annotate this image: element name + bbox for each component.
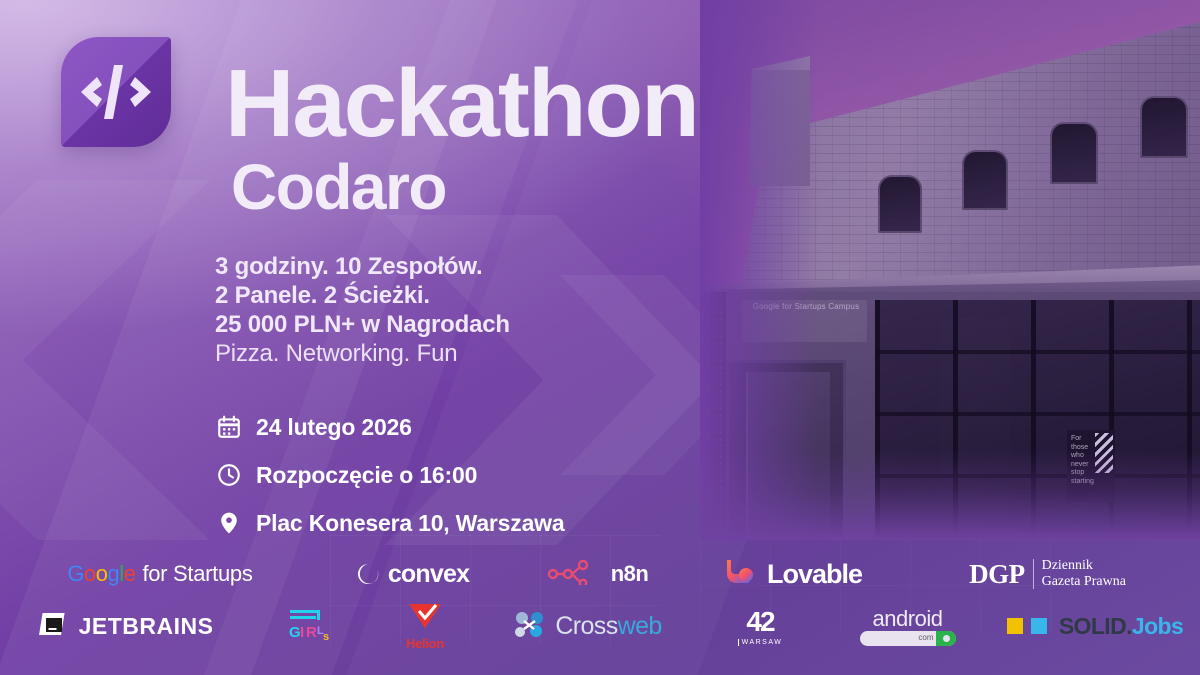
crossweb-wordmark: Crossweb [555,612,661,641]
crossweb-part1: Cross [555,612,617,640]
jetbrains-mark-icon [37,607,71,646]
google-wordmark: Google [67,561,135,587]
helion-wordmark: Helion [406,636,444,651]
sponsor-42-warsaw: 42 WARSAW [695,606,825,646]
location-pin-icon [216,510,242,536]
sponsor-helion: Helion [370,601,480,651]
google-letter-e: e [124,561,136,586]
info-row-date: 24 lutego 2026 [216,403,564,451]
svg-text:G: G [289,624,301,641]
dgp-divider [1033,559,1034,589]
sponsor-android: android com [825,606,990,646]
info-location-text: Plac Konesera 10, Warszawa [256,510,564,537]
info-date-text: 24 lutego 2026 [256,414,412,441]
convex-wordmark: convex [388,560,469,589]
google-letter-g: G [67,561,84,586]
sponsor-girls-code: G I R L s [250,607,370,645]
google-letter-o2: o [96,561,108,586]
android-domain-bar: com [860,631,956,646]
photo-bottom-fade [700,450,1200,540]
n8n-wordmark: n8n [611,561,649,587]
solid-yellow-square-icon [1007,618,1023,634]
detail-line: 3 godziny. 10 Zespołów. [215,252,510,281]
dgp-initials: DGP [969,559,1025,590]
dgp-fullname: Dziennik Gazeta Prawna [1042,558,1126,590]
n8n-nodes-icon [547,559,599,590]
dgp-name-line1: Dziennik [1042,558,1126,574]
solid-jobs-wordmark: SOLID.Jobs [1059,613,1183,640]
android-domain-text: com [918,633,933,642]
sponsor-dgp: DGP Dziennik Gazeta Prawna [895,558,1200,590]
sponsor-crossweb: Crossweb [480,609,695,644]
calendar-icon [216,414,242,440]
info-time-text: Rozpoczęcie o 16:00 [256,462,477,489]
sponsor-convex: convex [320,560,505,589]
sponsor-row-2: JETBRAINS G I R L s [0,600,1200,652]
google-for-startups-suffix: for Startups [142,561,252,587]
crossweb-mark-icon [513,609,547,644]
sponsor-solid-jobs: SOLID.Jobs [990,613,1200,640]
left-arrow-decor [0,180,210,540]
google-letter-o1: o [84,561,96,586]
solid-part1: SOLID. [1059,613,1132,639]
event-poster: Google for Startups Campus For those who… [0,0,1200,675]
svg-text:R: R [306,624,317,641]
page-title: Hackathon [225,58,698,150]
sponsor-google-for-startups: Google for Startups [0,561,320,587]
event-details-list: 3 godziny. 10 Zespołów. 2 Panele. 2 Ście… [215,252,510,368]
page-subtitle: Codaro [231,155,446,219]
clock-icon [216,462,242,488]
code-brackets-logo-icon [61,37,171,147]
info-row-time: Rozpoczęcie o 16:00 [216,451,564,499]
lovable-heart-icon [723,557,755,592]
helion-mark-icon [405,601,445,636]
google-letter-g2: g [108,561,120,586]
jetbrains-wordmark: JETBRAINS [79,613,214,640]
crossweb-part2: web [618,612,662,640]
android-wordmark: android [873,606,943,632]
svg-text:s: s [323,631,329,643]
girls-code-logo-icon: G I R L s [287,607,333,645]
sponsor-row-1: Google for Startups convex [0,548,1200,600]
android-play-badge-icon [936,631,956,646]
sponsor-jetbrains: JETBRAINS [0,607,250,646]
sponsor-lovable: Lovable [690,557,895,592]
lovable-wordmark: Lovable [767,559,862,590]
venue-photo: Google for Startups Campus For those who… [700,0,1200,540]
svg-text:I: I [300,624,304,641]
detail-line: Pizza. Networking. Fun [215,339,510,368]
convex-mark-icon [356,562,380,586]
solid-blue-square-icon [1031,618,1047,634]
info-row-location: Plac Konesera 10, Warszawa [216,499,564,547]
sponsor-n8n: n8n [505,559,690,590]
solid-part2: Jobs [1132,613,1183,639]
dgp-name-line2: Gazeta Prawna [1042,574,1126,590]
detail-line: 2 Panele. 2 Ścieżki. [215,281,510,310]
sponsor-logos: Google for Startups convex [0,548,1200,652]
detail-line: 25 000 PLN+ w Nagrodach [215,310,510,339]
42-wordmark: 42 [746,606,773,638]
42-warsaw-sub: WARSAW [738,639,783,646]
event-info-list: 24 lutego 2026 Rozpoczęcie o 16:00 Plac … [216,403,564,547]
